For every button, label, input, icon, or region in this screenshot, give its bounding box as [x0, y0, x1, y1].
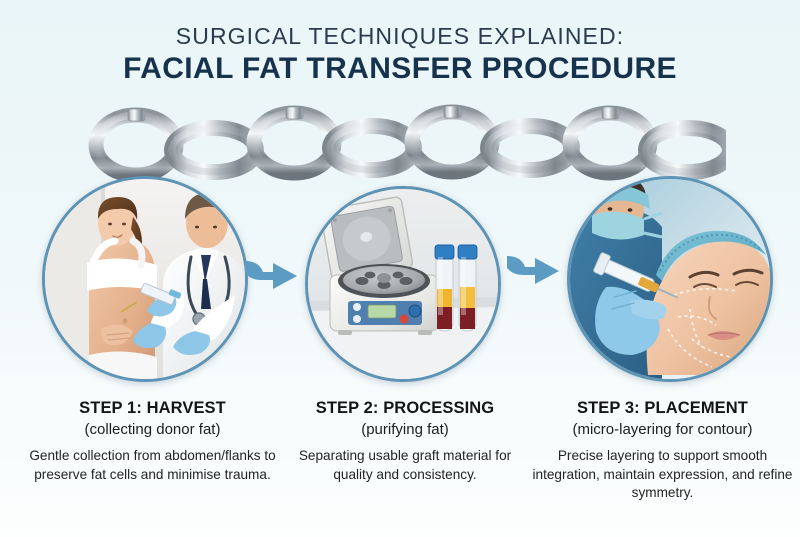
eyebrow-text: SURGICAL TECHNIQUES EXPLAINED:	[0, 22, 800, 50]
step-1-subtitle: (collecting donor fat)	[20, 420, 285, 440]
test-tube	[458, 245, 477, 331]
surgical-mask	[592, 212, 644, 240]
step-2-description: Separating usable graft material for qua…	[295, 447, 515, 484]
chain-link-upright	[254, 113, 334, 173]
chain-link-upright	[96, 115, 176, 175]
chain-link-flat	[330, 126, 414, 170]
step-1-image	[42, 176, 248, 382]
step-1-description: Gentle collection from abdomen/flanks to…	[20, 447, 285, 484]
arrow-step2-to-step3	[505, 250, 563, 290]
chain-illustration	[76, 98, 726, 193]
step-3-subtitle: (micro-layering for contour)	[530, 420, 795, 440]
step-3-caption: STEP 3: PLACEMENT (micro-layering for co…	[530, 398, 795, 503]
chain-link-upright	[570, 113, 650, 173]
step-1-caption: STEP 1: HARVEST (collecting donor fat) G…	[20, 398, 285, 484]
infographic-canvas: SURGICAL TECHNIQUES EXPLAINED: FACIAL FA…	[0, 0, 800, 537]
arrow-step1-to-step2	[243, 255, 301, 295]
step-3-image	[567, 176, 773, 382]
chain-link-flat	[488, 126, 572, 170]
test-tube	[435, 245, 454, 331]
chain-link-upright	[412, 112, 492, 172]
chain-link-flat	[172, 128, 256, 172]
step-2-title: STEP 2: PROCESSING	[295, 398, 515, 419]
step-2-caption: STEP 2: PROCESSING (purifying fat) Separ…	[295, 398, 515, 484]
page-title: FACIAL FAT TRANSFER PROCEDURE	[0, 51, 800, 87]
step-3-title: STEP 3: PLACEMENT	[530, 398, 795, 419]
step-2-subtitle: (purifying fat)	[295, 420, 515, 440]
step-2-image	[305, 186, 501, 382]
step-3-description: Precise layering to support smooth integ…	[530, 447, 795, 503]
step-1-title: STEP 1: HARVEST	[20, 398, 285, 419]
chain-link-flat	[646, 128, 726, 172]
title-block: SURGICAL TECHNIQUES EXPLAINED: FACIAL FA…	[0, 22, 800, 87]
